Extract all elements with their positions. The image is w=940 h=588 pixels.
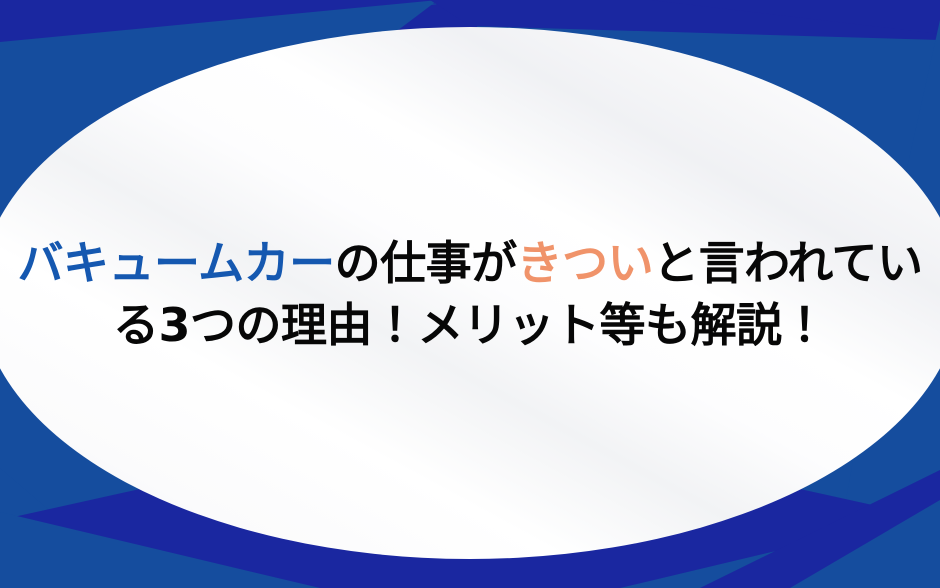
white-ellipse-panel bbox=[0, 0, 940, 588]
ellipse-shape bbox=[0, 27, 940, 559]
thumbnail-canvas: バキュームカーの仕事がきついと言われてい る3つの理由！メリット等も解説！ bbox=[0, 0, 940, 588]
